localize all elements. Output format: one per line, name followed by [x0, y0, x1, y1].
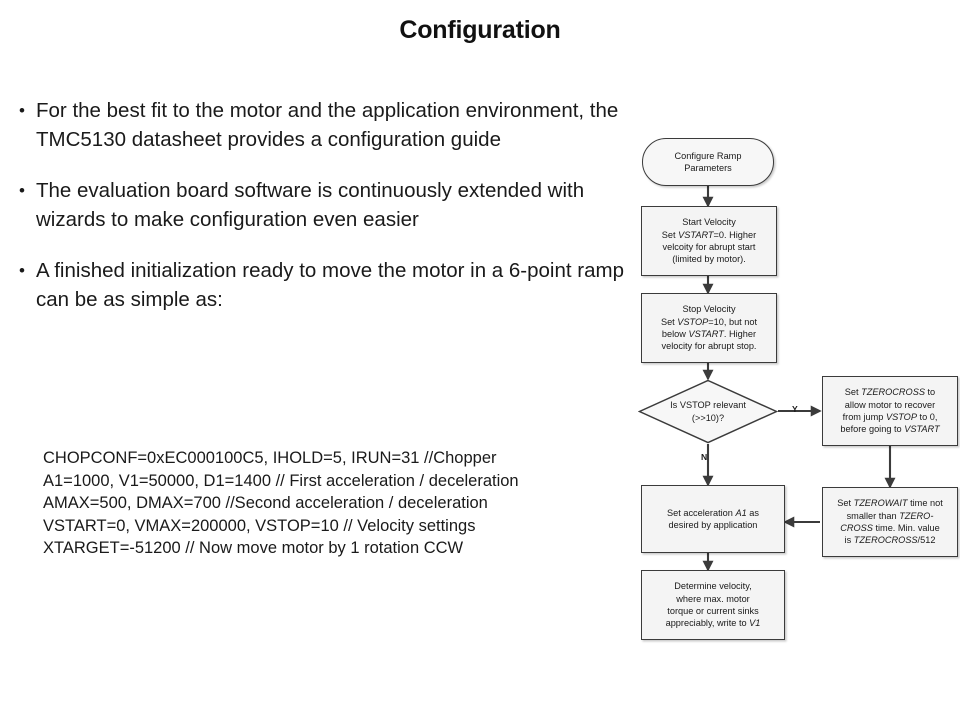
flow-param-a1: A1 — [735, 508, 746, 518]
flow-node-start: Configure Ramp Parameters — [642, 138, 774, 186]
list-item: • A finished initialization ready to mov… — [16, 256, 641, 314]
flow-text: =10, but not — [708, 317, 757, 327]
code-line: VSTART=0, VMAX=200000, VSTOP=10 // Veloc… — [43, 515, 693, 538]
bullet-marker-icon: • — [16, 96, 36, 125]
page-title: Configuration — [0, 16, 960, 45]
flow-param-vstop: VSTOP — [886, 412, 917, 422]
flow-text: time not — [908, 498, 943, 508]
flow-text: Set — [845, 387, 861, 397]
flow-decision-line1: Is VSTOP relevant — [670, 400, 746, 410]
bullet-text: The evaluation board software is continu… — [36, 176, 641, 234]
branch-label-no: N — [701, 452, 707, 462]
branch-label-yes: Y — [792, 404, 798, 414]
bullet-marker-icon: • — [16, 176, 36, 205]
list-item: • The evaluation board software is conti… — [16, 176, 641, 234]
flow-node-start-velocity: Start Velocity Set VSTART=0. Higher velc… — [641, 206, 777, 276]
flow-text: /512 — [918, 535, 936, 545]
flow-text: torque or current sinks — [667, 606, 758, 616]
flow-text: below — [662, 329, 689, 339]
flow-param-tzerocross: TZEROCROSS — [861, 387, 925, 397]
flow-text: smaller than — [847, 511, 900, 521]
flow-text: is — [845, 535, 854, 545]
code-line: A1=1000, V1=50000, D1=1400 // First acce… — [43, 470, 693, 493]
flow-node-start-line1: Configure Ramp — [675, 151, 742, 161]
flow-text: =0. Higher — [714, 230, 757, 240]
flow-text: Set acceleration — [667, 508, 735, 518]
flow-param-vstop: VSTOP — [677, 317, 708, 327]
flow-text: appreciably, write to — [666, 618, 750, 628]
flow-decision-line2: (>>10)? — [692, 413, 724, 423]
flow-param-v1: V1 — [749, 618, 760, 628]
flow-param-tzero: TZERO- — [899, 511, 933, 521]
flow-text: Set — [661, 317, 677, 327]
code-line: XTARGET=-51200 // Now move motor by 1 ro… — [43, 537, 693, 560]
flow-node-decision-vstop-relevant: Is VSTOP relevant (>>10)? — [638, 379, 778, 444]
ramp-configuration-flowchart: Configure Ramp Parameters Start Velocity… — [620, 130, 960, 680]
flow-text: before going to — [840, 424, 904, 434]
bullet-list: • For the best fit to the motor and the … — [16, 96, 641, 336]
flow-text: (limited by motor). — [672, 254, 746, 264]
flow-text: where max. motor — [676, 594, 750, 604]
flow-text: velcoity for abrupt start — [663, 242, 756, 252]
flow-text: Set — [662, 230, 678, 240]
flow-node-start-line2: Parameters — [684, 163, 732, 173]
flow-text: Set — [837, 498, 853, 508]
flow-text: to — [925, 387, 935, 397]
flow-text: velocity for abrupt stop. — [662, 341, 757, 351]
flow-node-stop-velocity: Stop Velocity Set VSTOP=10, but not belo… — [641, 293, 777, 363]
flow-text: to 0, — [917, 412, 937, 422]
flow-text: . Higher — [724, 329, 756, 339]
flow-text: from jump — [843, 412, 886, 422]
flow-text: desired by application — [669, 520, 758, 530]
flow-param-tzerocross: TZEROCROSS — [854, 535, 918, 545]
bullet-marker-icon: • — [16, 256, 36, 285]
flow-start-velocity-title: Start Velocity — [682, 217, 736, 227]
flow-text: time. Min. value — [873, 523, 940, 533]
flow-node-set-tzerocross: Set TZEROCROSS to allow motor to recover… — [822, 376, 958, 446]
flow-param-vstart: VSTART — [678, 230, 713, 240]
flow-param-vstart: VSTART — [904, 424, 939, 434]
code-block: CHOPCONF=0xEC000100C5, IHOLD=5, IRUN=31 … — [43, 447, 693, 560]
flow-node-determine-velocity: Determine velocity, where max. motor tor… — [641, 570, 785, 640]
code-line: CHOPCONF=0xEC000100C5, IHOLD=5, IRUN=31 … — [43, 447, 693, 470]
flow-param-tzerowait: TZEROWAIT — [854, 498, 908, 508]
flow-text: allow motor to recover — [845, 400, 935, 410]
bullet-text: A finished initialization ready to move … — [36, 256, 641, 314]
flow-text: as — [747, 508, 759, 518]
flow-param-cross: CROSS — [840, 523, 873, 533]
flow-text: Determine velocity, — [674, 581, 751, 591]
flow-stop-velocity-title: Stop Velocity — [682, 304, 735, 314]
flow-param-vstart: VSTART — [688, 329, 723, 339]
list-item: • For the best fit to the motor and the … — [16, 96, 641, 154]
flow-node-set-acceleration: Set acceleration A1 as desired by applic… — [641, 485, 785, 553]
code-line: AMAX=500, DMAX=700 //Second acceleration… — [43, 492, 693, 515]
bullet-text: For the best fit to the motor and the ap… — [36, 96, 641, 154]
flow-node-set-tzerowait: Set TZEROWAIT time not smaller than TZER… — [822, 487, 958, 557]
